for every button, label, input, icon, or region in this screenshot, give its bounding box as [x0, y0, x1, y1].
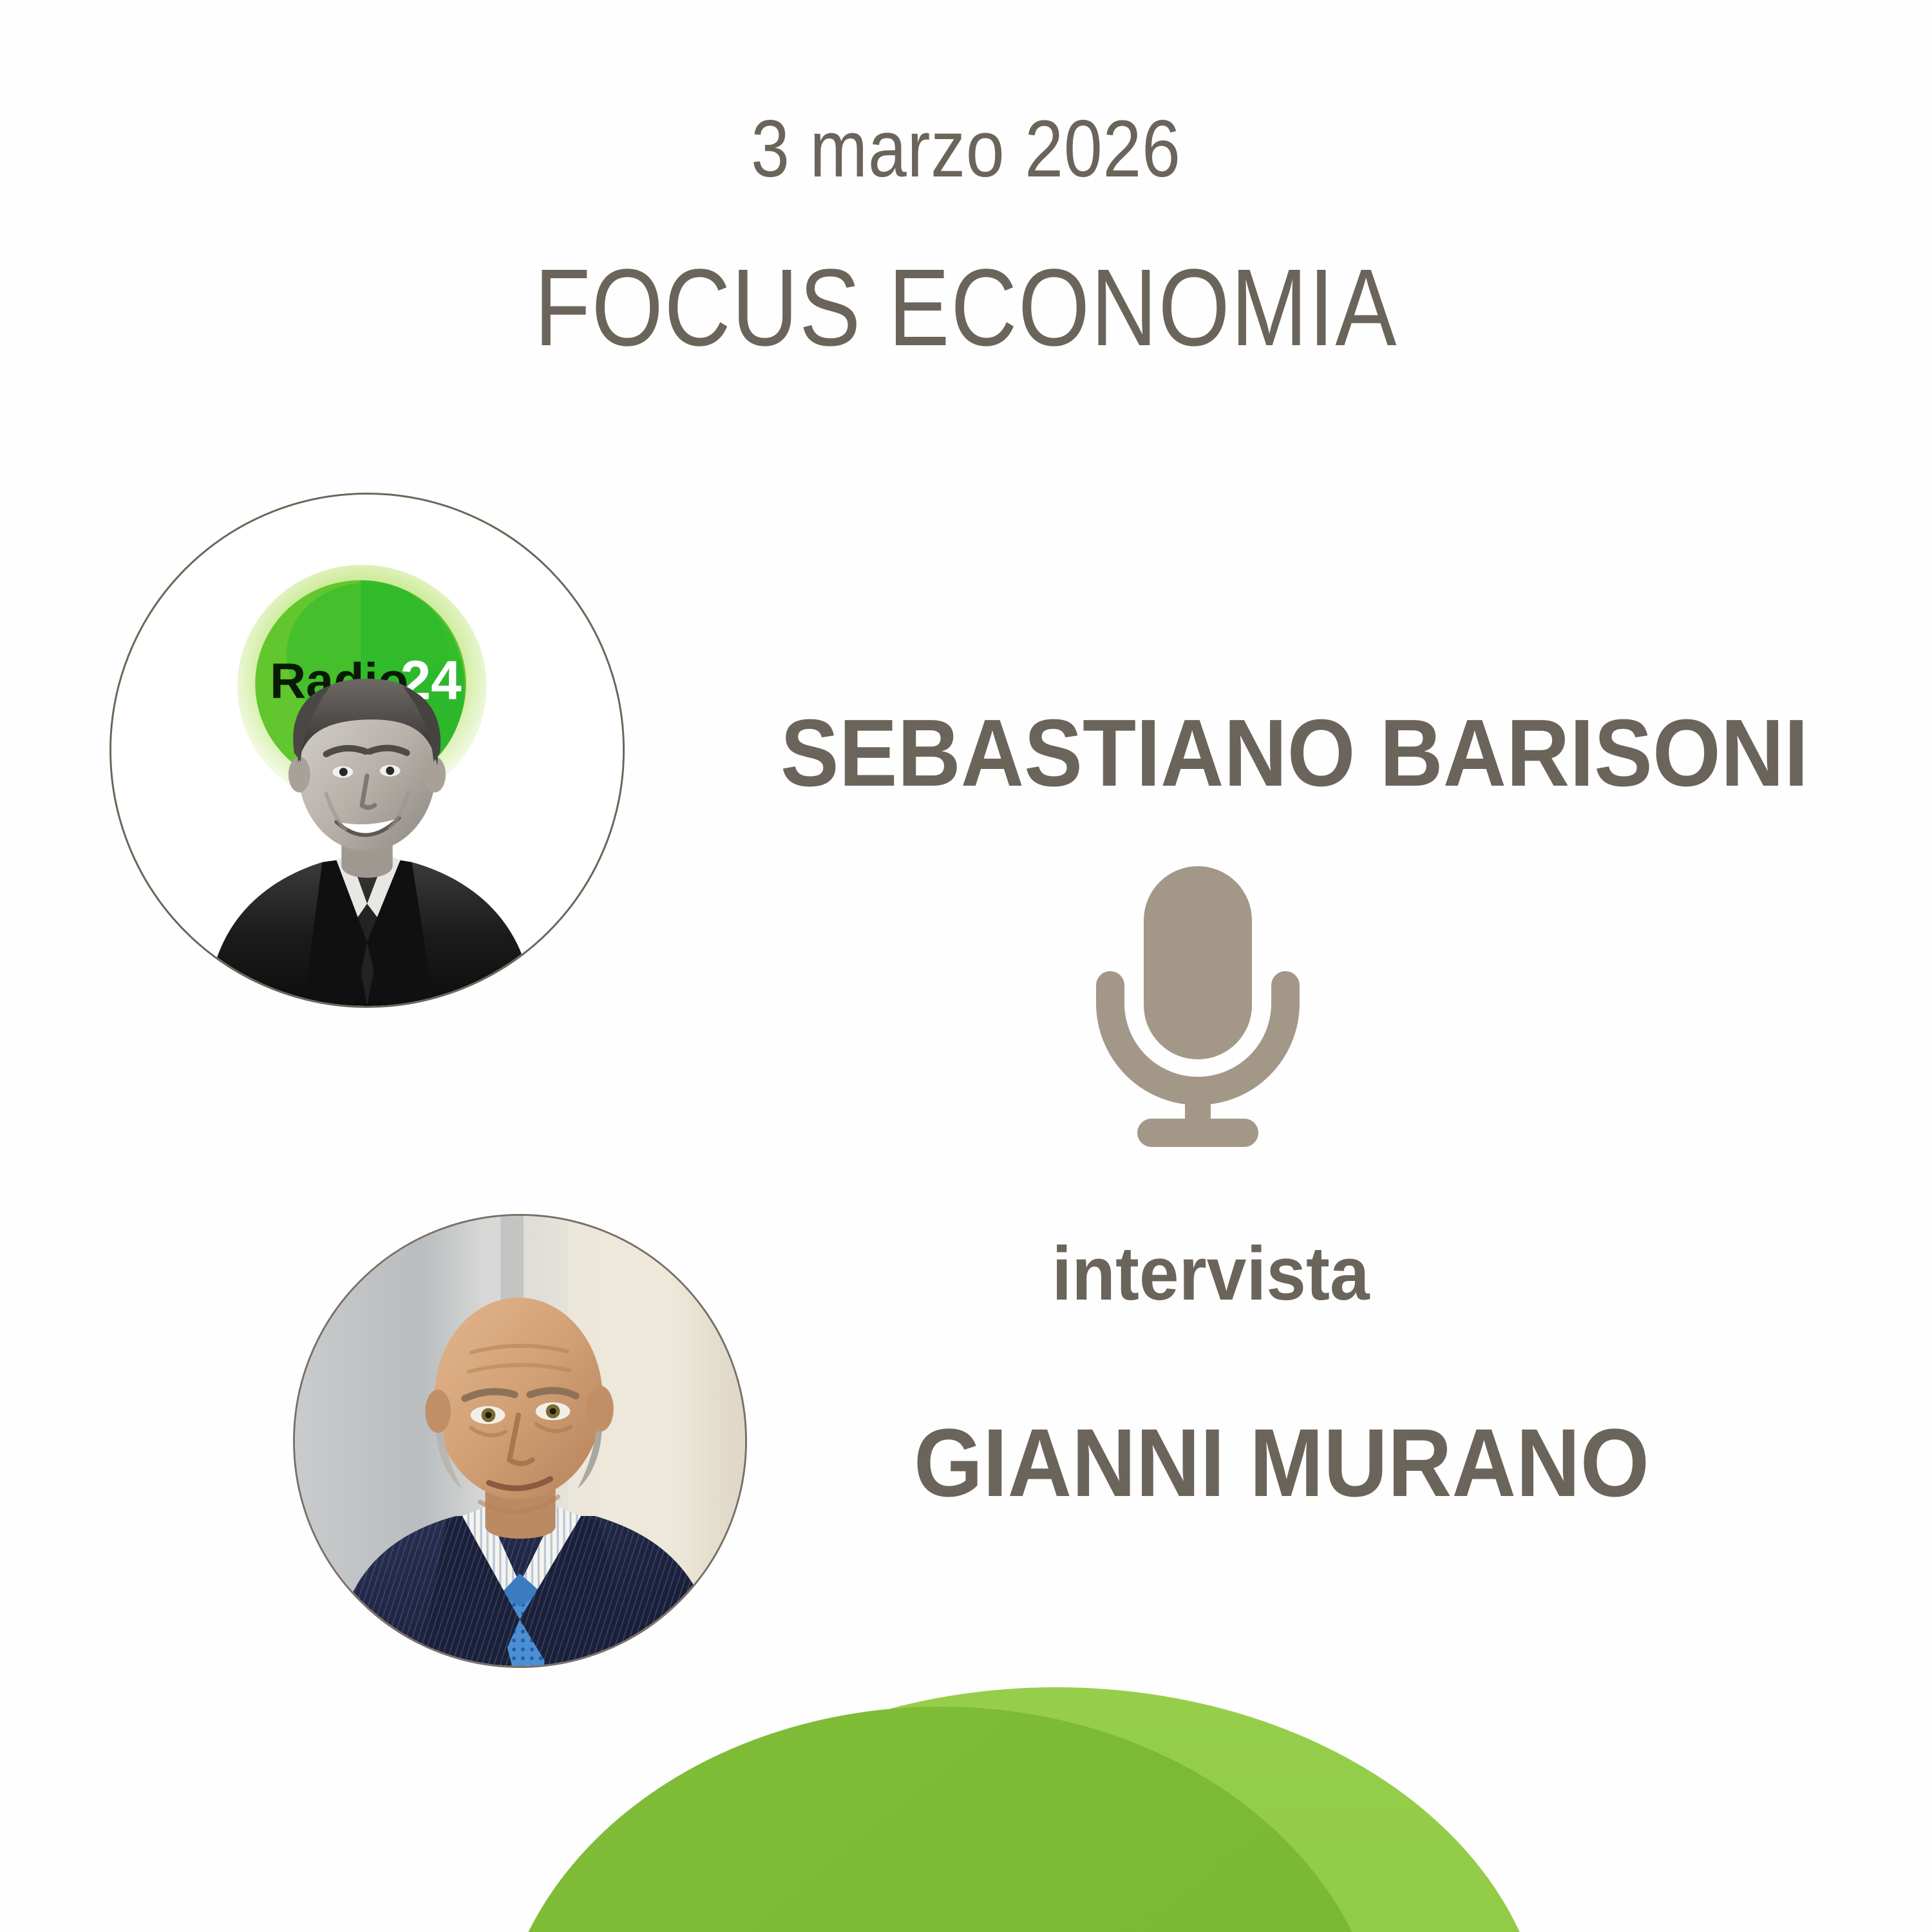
green-ellipse-front — [496, 1707, 1385, 1932]
guest-name: GIANNI MURANO — [802, 1407, 1761, 1519]
interview-label: intervista — [787, 1230, 1634, 1318]
host-name: SEBASTIANO BARISONI — [732, 699, 1857, 808]
broadcast-date: 3 marzo 2026 — [135, 103, 1797, 195]
program-title: FOCUS ECONOMIA — [155, 245, 1777, 371]
microphone-icon — [1095, 853, 1301, 1159]
host-avatar: Radio 24 — [109, 493, 625, 1008]
green-ellipse-back — [567, 1687, 1546, 1932]
guest-avatar — [293, 1214, 747, 1668]
poster-canvas: 3 marzo 2026 FOCUS ECONOMIA — [0, 0, 1932, 1932]
